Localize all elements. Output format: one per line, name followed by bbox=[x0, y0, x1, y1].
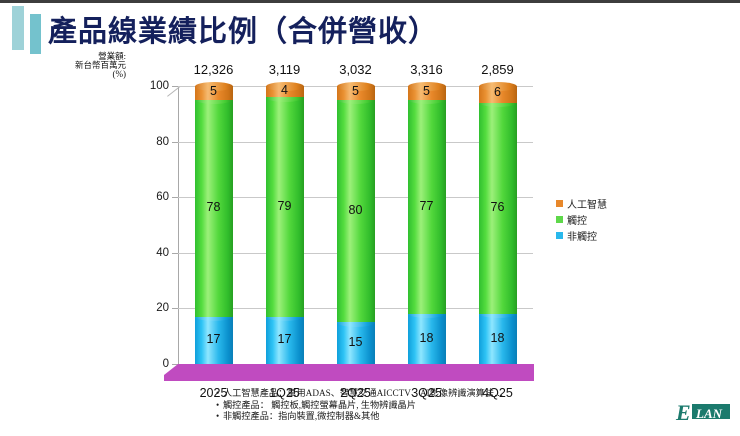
footnote-item: •人工智慧產品：車用ADAS、智慧交通AICCTV、AI影像辨識演算法… bbox=[216, 388, 636, 400]
segment-value-label: 78 bbox=[195, 200, 233, 214]
bullet-icon: • bbox=[216, 400, 223, 412]
y-tick bbox=[172, 197, 178, 198]
y-tick-label: 100 bbox=[150, 80, 169, 92]
chart-floor bbox=[164, 364, 548, 381]
bar-segment[interactable]: 78 bbox=[195, 100, 233, 317]
bar-segment[interactable]: 15 bbox=[337, 322, 375, 364]
logo-text: LAN bbox=[696, 406, 722, 422]
y-axis-line bbox=[178, 86, 179, 364]
unit-caption-line3: (%) bbox=[6, 70, 126, 80]
bar-segment[interactable]: 18 bbox=[408, 314, 446, 364]
segment-value-label: 79 bbox=[266, 199, 304, 213]
legend-label: 人工智慧 bbox=[567, 196, 607, 211]
bar-column[interactable]: 15805 bbox=[337, 86, 375, 364]
segment-value-label: 18 bbox=[479, 331, 517, 345]
slide-canvas: 產品線業績比例（合併營收） 營業額: 新台幣百萬元 (%) 0204060801… bbox=[0, 0, 740, 436]
y-tick-label: 20 bbox=[156, 302, 169, 314]
chart-legend: 人工智慧觸控非觸控 bbox=[556, 196, 607, 244]
revenue-label: 3,032 bbox=[321, 62, 391, 77]
bar-segment[interactable]: 79 bbox=[266, 97, 304, 317]
legend-item[interactable]: 人工智慧 bbox=[556, 196, 607, 210]
bar-segment[interactable]: 4 bbox=[266, 86, 304, 97]
revenue-label: 2,859 bbox=[463, 62, 533, 77]
legend-label: 非觸控 bbox=[567, 228, 597, 243]
unit-caption-line2: 新台幣百萬元 bbox=[6, 61, 126, 70]
legend-swatch bbox=[556, 200, 563, 207]
axis-unit-caption: 營業額: 新台幣百萬元 (%) bbox=[6, 52, 126, 80]
footnote-text: 人工智慧產品：車用ADAS、智慧交通AICCTV、AI影像辨識演算法… bbox=[223, 388, 503, 398]
segment-value-label: 76 bbox=[479, 200, 517, 214]
legend-swatch bbox=[556, 232, 563, 239]
revenue-label: 3,316 bbox=[392, 62, 462, 77]
title-accent-bar-inner bbox=[30, 14, 41, 54]
logo-mark: E bbox=[676, 400, 691, 426]
bar-segment[interactable]: 18 bbox=[479, 314, 517, 364]
y-tick-label: 60 bbox=[156, 191, 169, 203]
top-border bbox=[0, 0, 740, 3]
elan-logo: LAN E bbox=[676, 400, 732, 426]
bar-segment[interactable]: 5 bbox=[195, 86, 233, 100]
footnote-item: •觸控產品： 觸控板,觸控螢幕晶片, 生物辨識晶片 bbox=[216, 400, 636, 412]
floor-front bbox=[164, 375, 534, 381]
footnote-text: 觸控產品： 觸控板,觸控螢幕晶片, 生物辨識晶片 bbox=[223, 400, 416, 410]
bar-column[interactable]: 18766 bbox=[479, 86, 517, 364]
revenue-label: 3,119 bbox=[250, 62, 320, 77]
y-tick bbox=[172, 86, 178, 87]
segment-value-label: 5 bbox=[408, 84, 446, 98]
y-tick bbox=[172, 142, 178, 143]
footnote-item: •非觸控產品：指向裝置,微控制器&其他 bbox=[216, 411, 636, 423]
footnotes: •人工智慧產品：車用ADAS、智慧交通AICCTV、AI影像辨識演算法…•觸控產… bbox=[216, 388, 636, 423]
y-tick-label: 80 bbox=[156, 136, 169, 148]
bar-column[interactable]: 17794 bbox=[266, 86, 304, 364]
segment-value-label: 6 bbox=[479, 85, 517, 99]
segment-value-label: 15 bbox=[337, 335, 375, 349]
y-tick bbox=[172, 253, 178, 254]
bar-segment[interactable]: 17 bbox=[266, 317, 304, 364]
segment-value-label: 5 bbox=[337, 84, 375, 98]
segment-value-label: 18 bbox=[408, 331, 446, 345]
segment-value-label: 80 bbox=[337, 203, 375, 217]
segment-value-label: 17 bbox=[195, 332, 233, 346]
floor-corner-left bbox=[164, 364, 178, 375]
chart-area: 營業額: 新台幣百萬元 (%) 020406080100 17785177941… bbox=[128, 54, 548, 384]
footnote-text: 非觸控產品：指向裝置,微控制器&其他 bbox=[223, 411, 379, 421]
legend-swatch bbox=[556, 216, 563, 223]
floor-top bbox=[178, 364, 534, 375]
plot-axes: 020406080100 1778517794158051877518766 bbox=[178, 86, 533, 364]
bullet-icon: • bbox=[216, 388, 223, 400]
y-tick bbox=[172, 308, 178, 309]
title-accent-bar-outer bbox=[12, 6, 24, 50]
bar-segment[interactable]: 17 bbox=[195, 317, 233, 364]
y-tick-label: 40 bbox=[156, 247, 169, 259]
legend-label: 觸控 bbox=[567, 212, 587, 227]
bar-segment[interactable]: 5 bbox=[337, 86, 375, 100]
segment-value-label: 17 bbox=[266, 332, 304, 346]
bullet-icon: • bbox=[216, 411, 223, 423]
legend-item[interactable]: 觸控 bbox=[556, 212, 607, 226]
bar-column[interactable]: 18775 bbox=[408, 86, 446, 364]
revenue-label: 12,326 bbox=[179, 62, 249, 77]
segment-value-label: 5 bbox=[195, 84, 233, 98]
bar-segment[interactable]: 80 bbox=[337, 100, 375, 322]
bar-segment[interactable]: 5 bbox=[408, 86, 446, 100]
bar-column[interactable]: 17785 bbox=[195, 86, 233, 364]
page-title: 產品線業績比例（合併營收） bbox=[48, 8, 438, 50]
bar-segment[interactable]: 6 bbox=[479, 86, 517, 103]
segment-value-label: 77 bbox=[408, 199, 446, 213]
bar-segment[interactable]: 77 bbox=[408, 100, 446, 314]
legend-item[interactable]: 非觸控 bbox=[556, 228, 607, 242]
segment-value-label: 4 bbox=[266, 83, 304, 97]
bar-segment[interactable]: 76 bbox=[479, 103, 517, 314]
